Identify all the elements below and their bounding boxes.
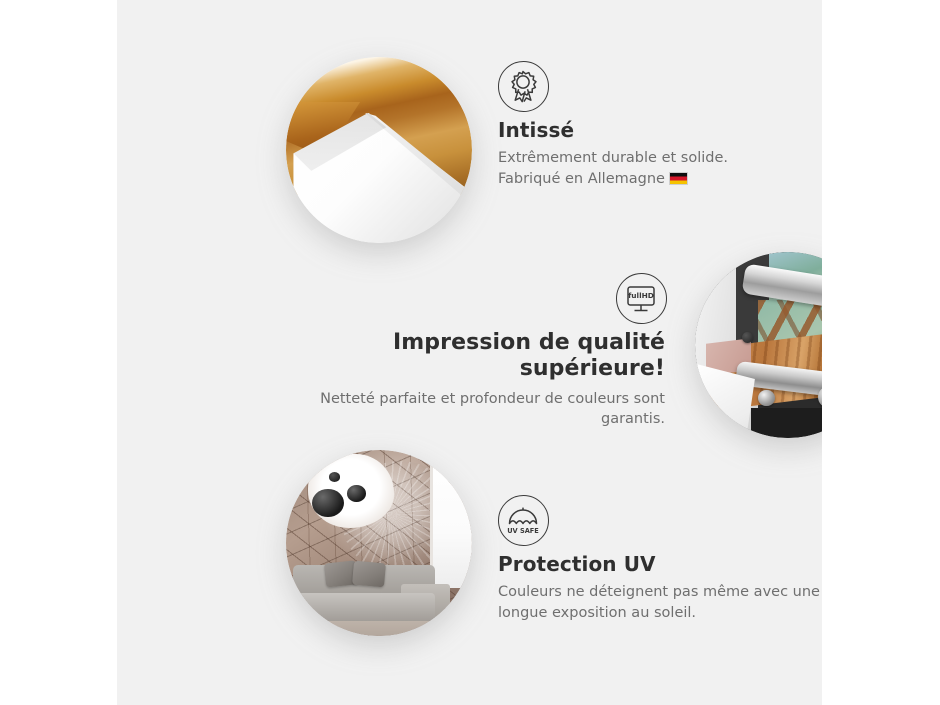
fullhd-monitor-icon: fullHD	[616, 273, 667, 324]
fullhd-label: fullHD	[628, 291, 654, 300]
peeling-wallpaper-photo-inner	[286, 57, 472, 243]
room-cushion-b	[352, 560, 386, 587]
feature-text-intisse: Intissé Extrêmement durable et solide. F…	[498, 118, 822, 191]
feature-title-intisse: Intissé	[498, 118, 822, 142]
feature-text-impression: Impression de qualité supérieure! Nettet…	[303, 330, 665, 430]
room-mural-dot-a	[312, 489, 344, 517]
feature-body-line1: Couleurs ne déteignent pas même avec une	[498, 584, 820, 600]
peeling-wallpaper-photo	[286, 57, 472, 243]
feature-title-uv: Protection UV	[498, 552, 822, 576]
feature-body-intisse: Extrêmement durable et solide. Fabriqué …	[498, 148, 822, 191]
press-knob-c	[758, 390, 775, 407]
printing-press-photo	[695, 252, 822, 438]
room-mural-dot-b	[347, 485, 366, 502]
feature-body-line1: Netteté parfaite et profondeur de couleu…	[320, 391, 665, 407]
product-feature-infographic: Intissé Extrêmement durable et solide. F…	[0, 0, 940, 705]
uv-safe-umbrella-icon: UV SAFE	[498, 495, 549, 546]
press-lower-shadow	[751, 408, 822, 438]
room-mural-dot-c	[329, 472, 340, 481]
feature-text-uv: Protection UV Couleurs ne déteignent pas…	[498, 552, 822, 623]
feature-body-line2: garantis.	[601, 411, 665, 427]
uv-safe-label: UV SAFE	[507, 527, 539, 535]
living-room-mural-photo	[286, 450, 472, 636]
award-rosette-icon	[498, 61, 549, 112]
living-room-mural-photo-inner	[286, 450, 472, 636]
german-flag-icon	[669, 171, 688, 192]
printing-press-photo-inner	[695, 252, 822, 438]
feature-body-impression: Netteté parfaite et profondeur de couleu…	[303, 389, 665, 430]
feature-body-line2: longue exposition au soleil.	[498, 605, 696, 621]
room-window-frame	[430, 450, 472, 588]
press-knob-d	[742, 332, 753, 343]
feature-title-impression: Impression de qualité supérieure!	[303, 330, 665, 383]
feature-body-line2: Fabriqué en Allemagne	[498, 171, 665, 187]
feature-body-uv: Couleurs ne déteignent pas même avec une…	[498, 582, 822, 623]
room-sofa-seat	[293, 593, 434, 621]
feature-body-line1: Extrêmement durable et solide.	[498, 150, 728, 166]
content-panel: Intissé Extrêmement durable et solide. F…	[117, 0, 822, 705]
